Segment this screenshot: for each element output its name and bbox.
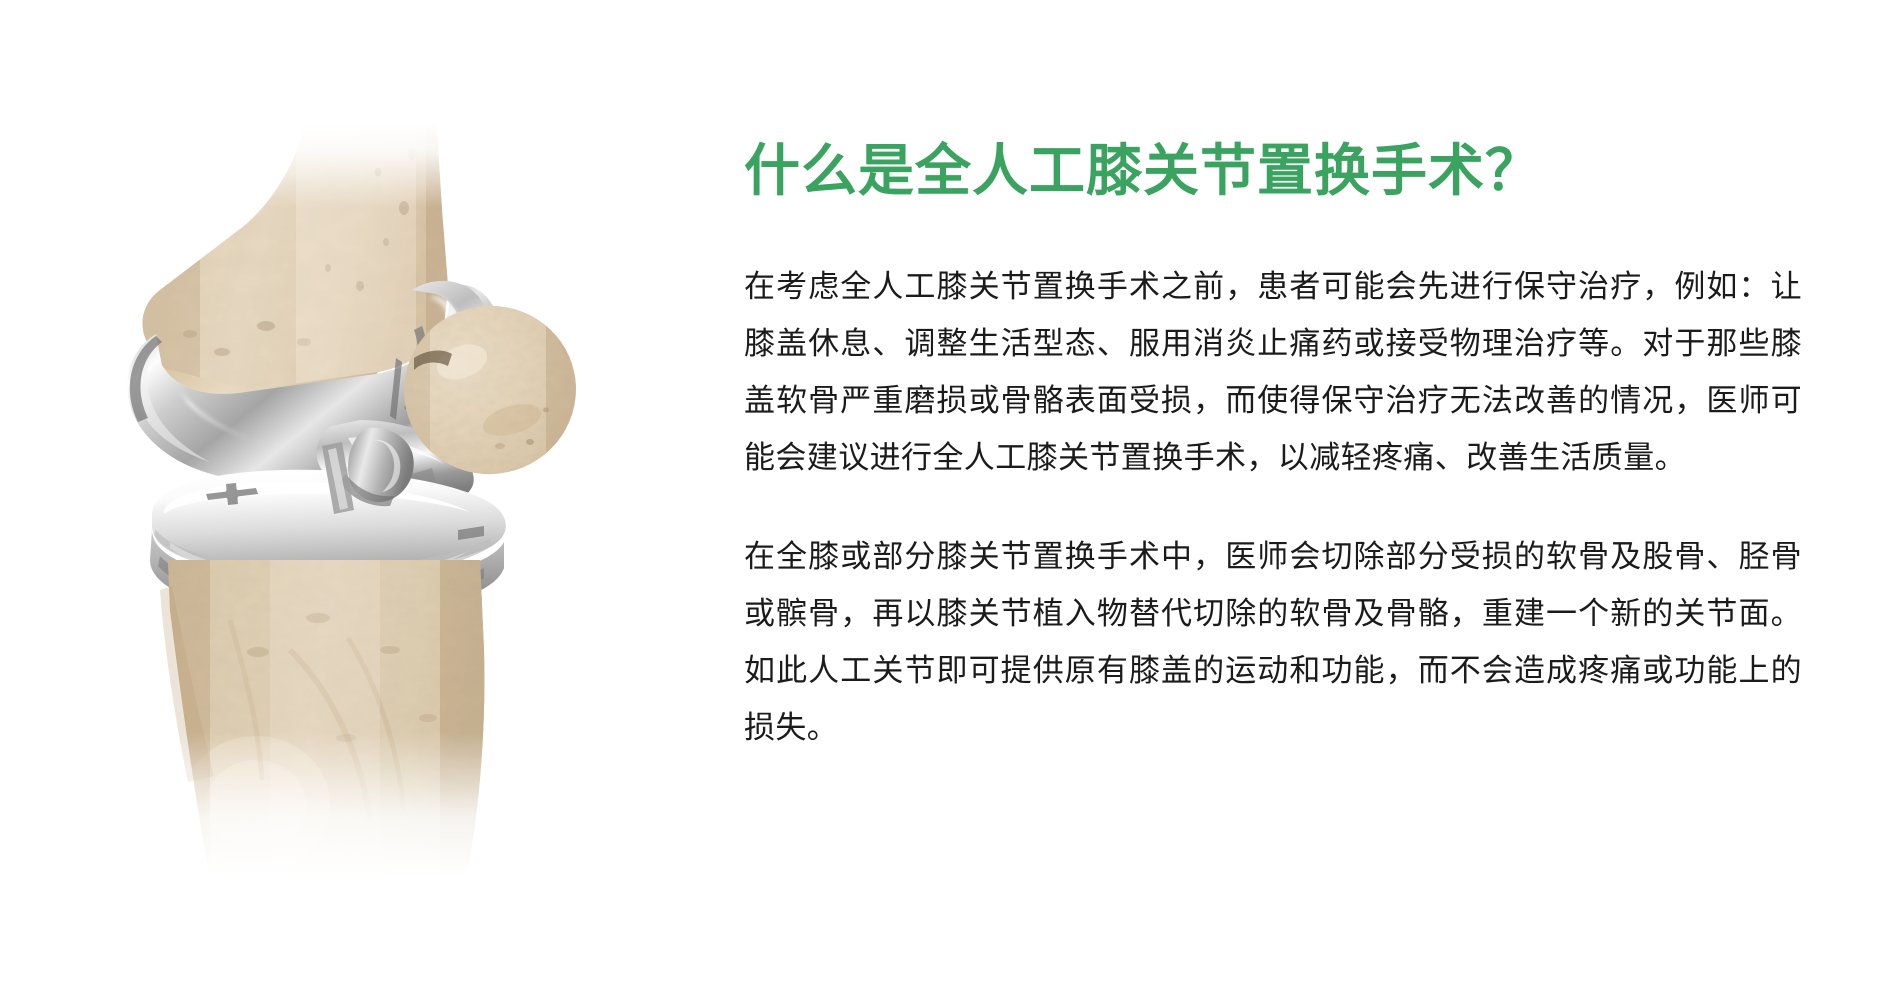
tibia-bone	[140, 540, 530, 920]
knee-implant-illustration	[0, 0, 700, 1004]
paragraph-2: 在全膝或部分膝关节置换手术中，医师会切除部分受损的软骨及股骨、胫骨或髌骨，再以膝…	[744, 528, 1802, 756]
page-root: 什么是全人工膝关节置换手术？ 在考虑全人工膝关节置换手术之前，患者可能会先进行保…	[0, 0, 1892, 1004]
paragraph-1: 在考虑全人工膝关节置换手术之前，患者可能会先进行保守治疗，例如：让膝盖休息、调整…	[744, 258, 1802, 486]
knee-illustration-stage	[60, 90, 620, 920]
article-body: 在考虑全人工膝关节置换手术之前，患者可能会先进行保守治疗，例如：让膝盖休息、调整…	[744, 258, 1802, 756]
text-content-column: 什么是全人工膝关节置换手术？ 在考虑全人工膝关节置换手术之前，患者可能会先进行保…	[744, 0, 1804, 1004]
page-title: 什么是全人工膝关节置换手术？	[744, 138, 1804, 204]
knee-implant-graphic	[60, 90, 620, 920]
